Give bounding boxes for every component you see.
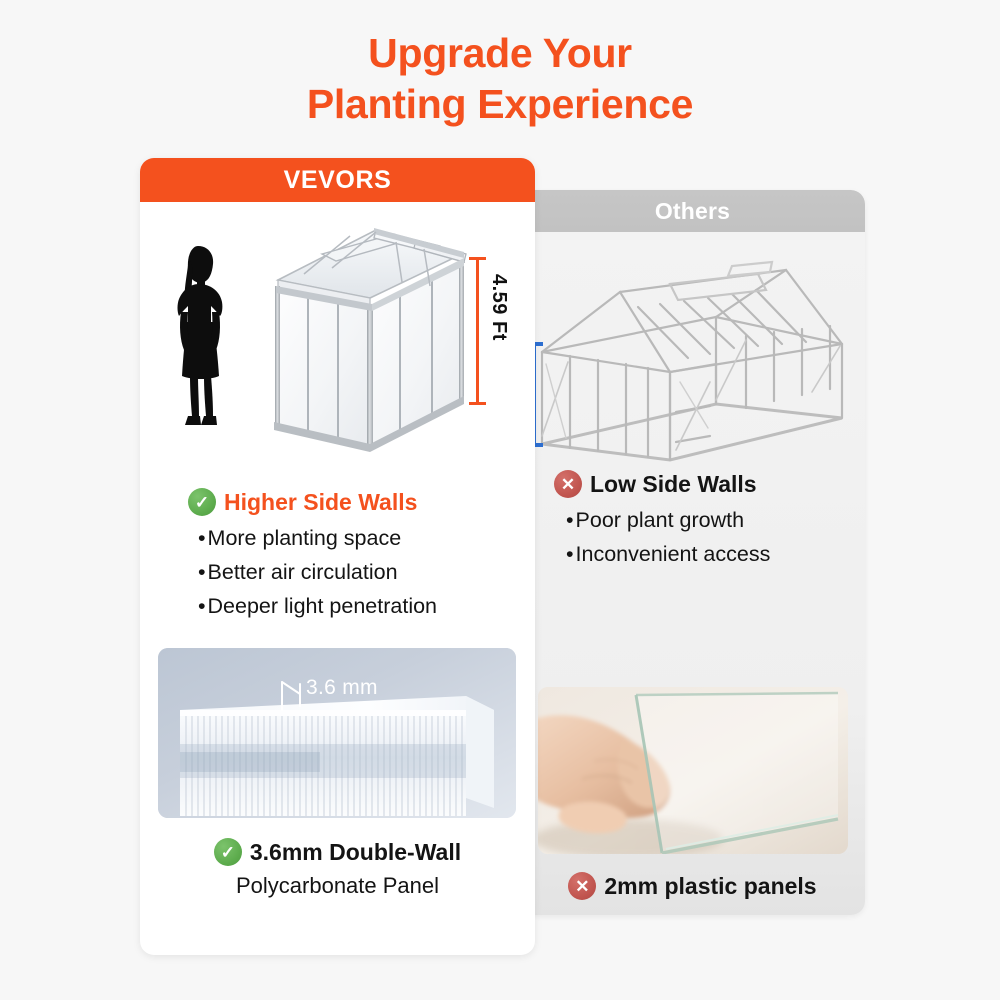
comparison-board: Others bbox=[0, 0, 1000, 1000]
list-item: Poor plant growth bbox=[566, 504, 854, 538]
panel-thickness-label: 3.6 mm bbox=[306, 676, 378, 700]
others-header-label: Others bbox=[655, 198, 730, 225]
others-feature-heading: Low Side Walls bbox=[590, 471, 757, 498]
others-caption-title: 2mm plastic panels bbox=[604, 873, 816, 900]
vevors-height-dimension-label: 4.59 Ft bbox=[487, 274, 510, 341]
woman-silhouette-icon bbox=[168, 242, 232, 432]
check-icon: ✓ bbox=[214, 838, 242, 866]
tall-greenhouse-illustration bbox=[226, 212, 476, 460]
vevors-feature-heading-row: ✓ Higher Side Walls bbox=[188, 488, 518, 516]
low-greenhouse-illustration bbox=[520, 232, 865, 467]
others-caption: ✕ 2mm plastic panels bbox=[520, 872, 865, 900]
others-hero-image bbox=[520, 232, 865, 467]
vevors-panel: VEVORS bbox=[140, 158, 535, 955]
vevors-header-label: VEVORS bbox=[284, 166, 392, 195]
vevors-feature-block: ✓ Higher Side Walls More planting space … bbox=[188, 488, 518, 623]
vevors-feature-bullets: More planting space Better air circulati… bbox=[198, 522, 518, 623]
list-item: Better air circulation bbox=[198, 556, 518, 590]
others-panel-body: ✕ Low Side Walls Poor plant growth Incon… bbox=[520, 232, 865, 915]
list-item: Inconvenient access bbox=[566, 538, 854, 572]
list-item: More planting space bbox=[198, 522, 518, 556]
others-panel: Others bbox=[520, 190, 865, 915]
others-panel-photo bbox=[538, 687, 848, 854]
others-panel-header: Others bbox=[520, 190, 865, 232]
vevors-caption: ✓ 3.6mm Double-Wall Polycarbonate Panel bbox=[140, 838, 535, 899]
vevors-panel-photo: 3.6 mm bbox=[158, 648, 516, 818]
cross-icon: ✕ bbox=[568, 872, 596, 900]
vevors-caption-subtitle: Polycarbonate Panel bbox=[140, 873, 535, 899]
vevors-caption-title: 3.6mm Double-Wall bbox=[250, 839, 461, 866]
others-feature-bullets: Poor plant growth Inconvenient access bbox=[566, 504, 854, 572]
others-feature-heading-row: ✕ Low Side Walls bbox=[554, 470, 854, 498]
vevors-caption-row: ✓ 3.6mm Double-Wall bbox=[140, 838, 535, 866]
hand-holding-thin-panel-illustration bbox=[538, 687, 848, 854]
others-feature-block: ✕ Low Side Walls Poor plant growth Incon… bbox=[554, 470, 854, 572]
list-item: Deeper light penetration bbox=[198, 590, 518, 624]
polycarbonate-sheet-illustration bbox=[158, 648, 516, 818]
others-caption-row: ✕ 2mm plastic panels bbox=[520, 872, 865, 900]
vevors-feature-heading: Higher Side Walls bbox=[224, 489, 417, 516]
vevors-panel-header: VEVORS bbox=[140, 158, 535, 202]
cross-icon: ✕ bbox=[554, 470, 582, 498]
vevors-height-dimension-line bbox=[476, 257, 479, 405]
check-icon: ✓ bbox=[188, 488, 216, 516]
vevors-hero-image: 4.59 Ft bbox=[140, 202, 535, 470]
